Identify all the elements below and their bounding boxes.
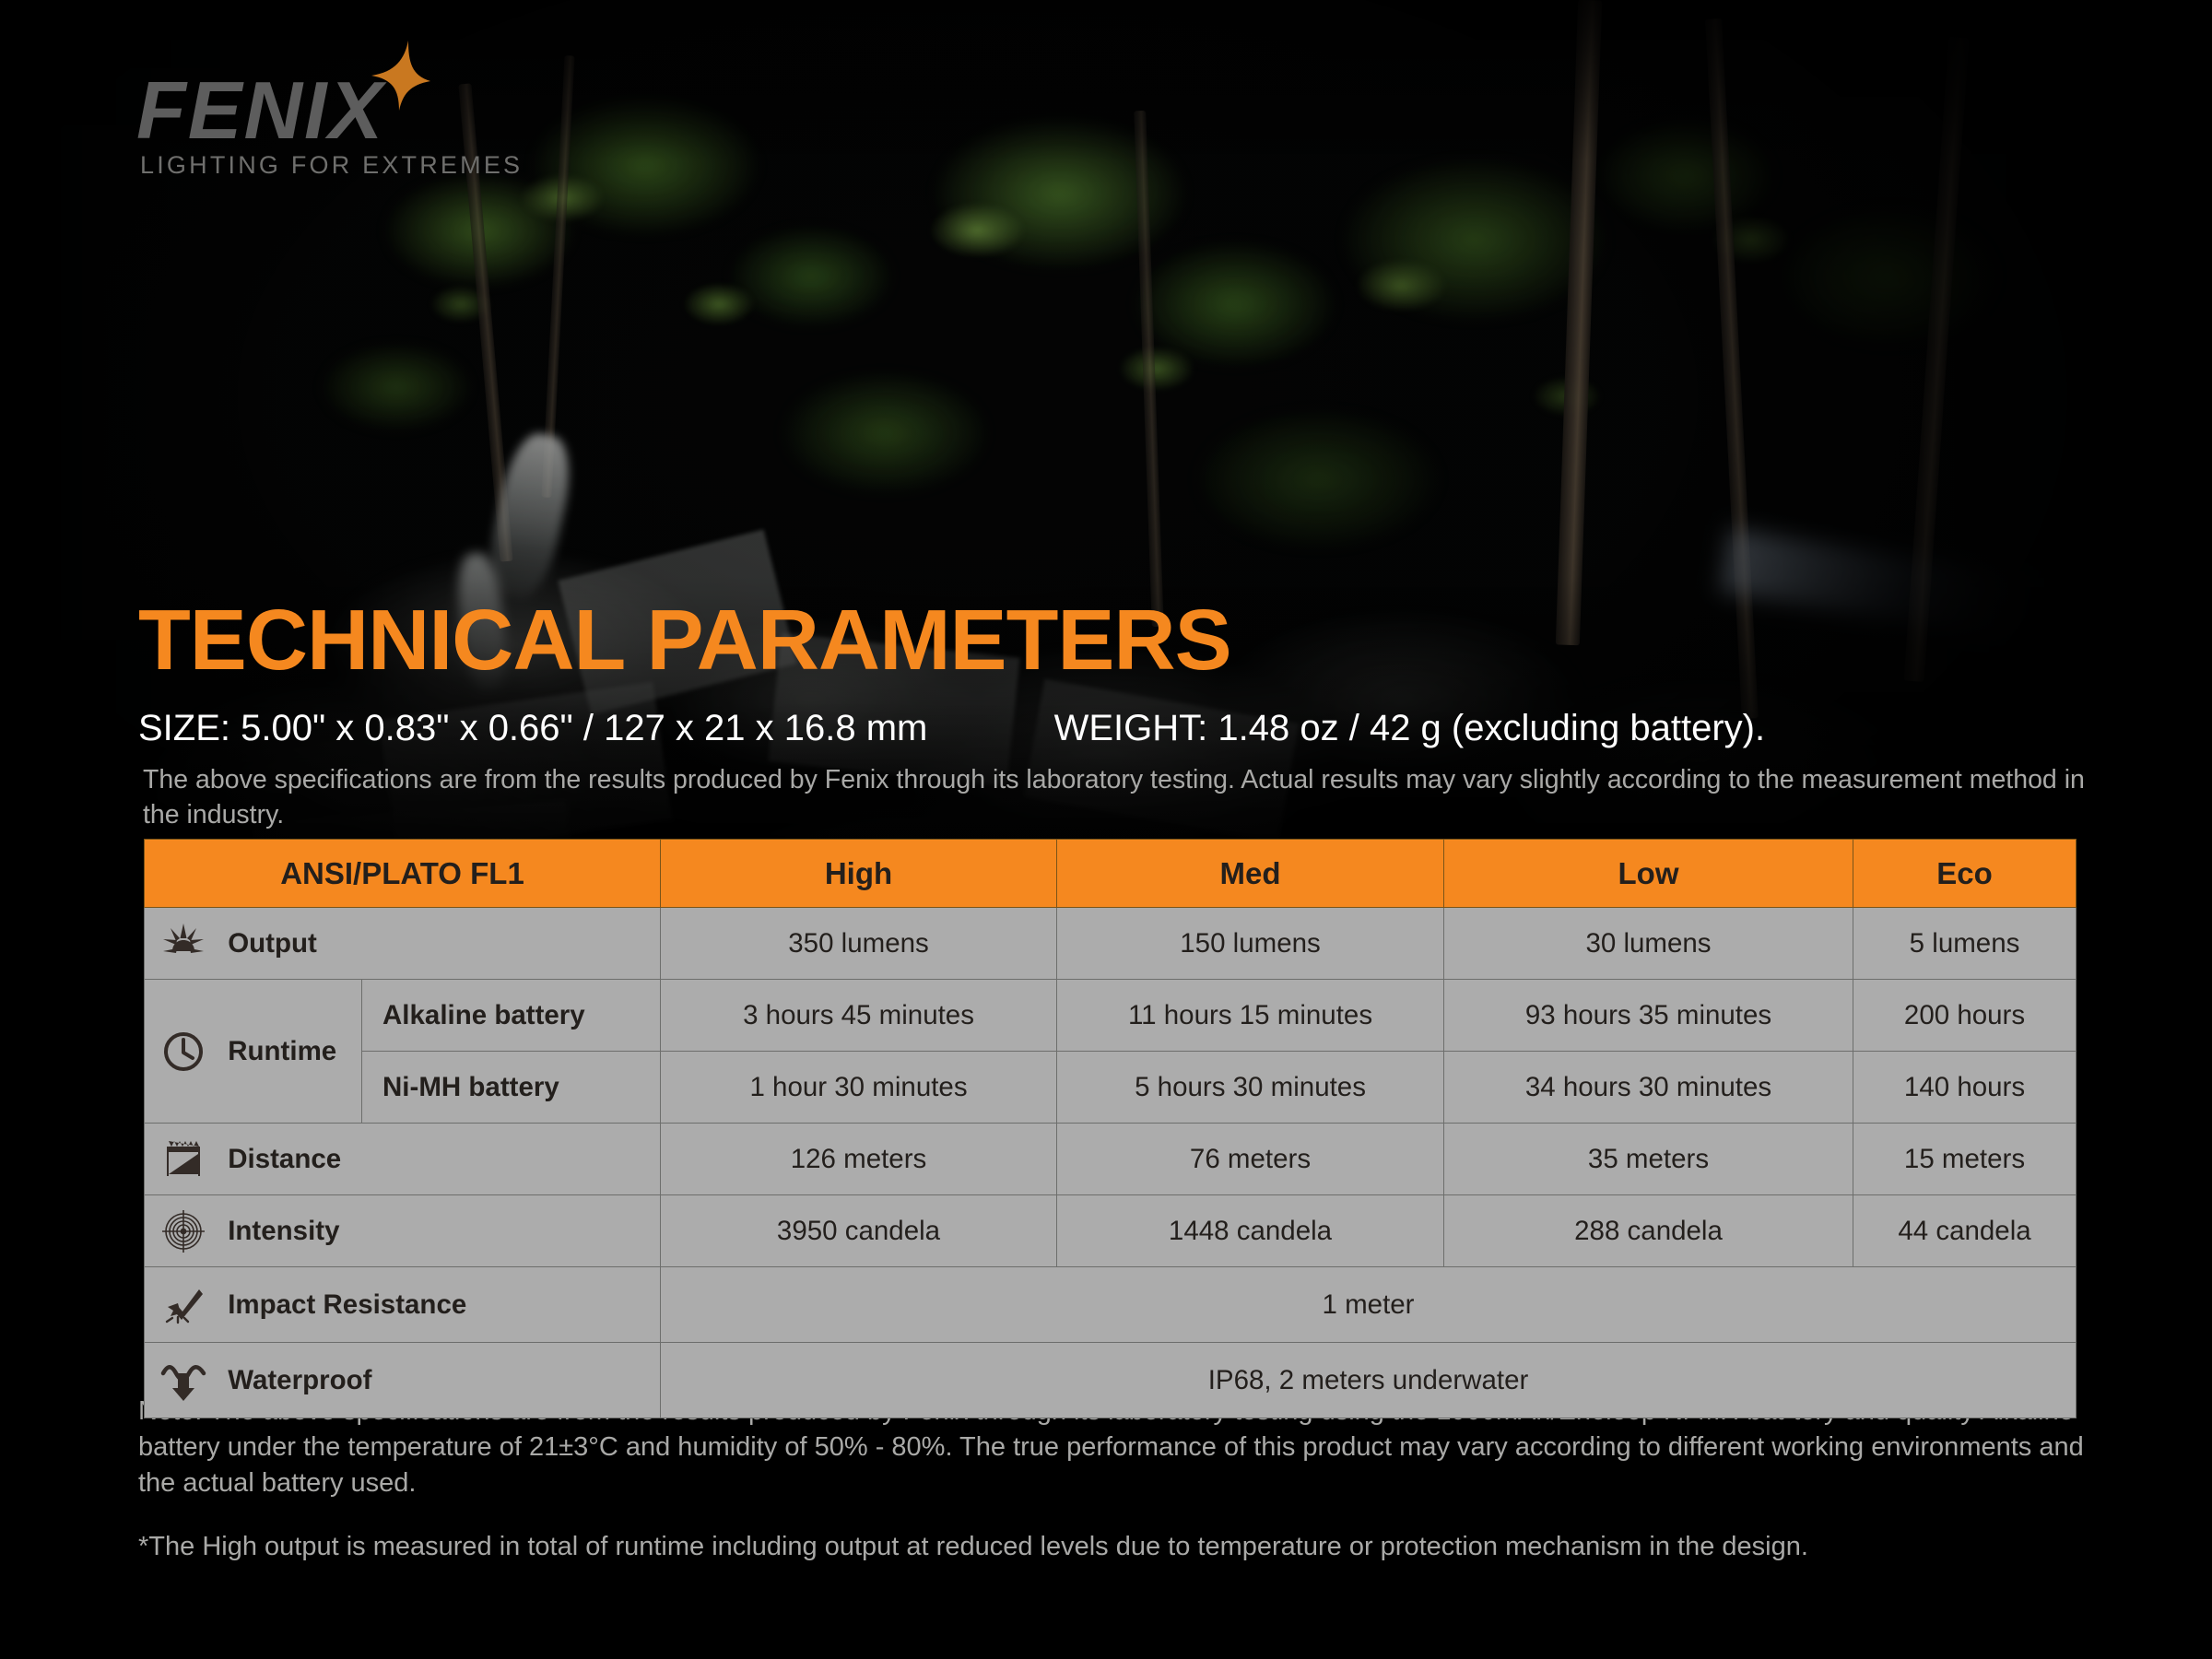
runtime-alkaline-high: 3 hours 45 minutes — [661, 980, 1057, 1052]
runtime-alkaline-eco: 200 hours — [1853, 980, 2077, 1052]
impact-resistance-label: Impact Resistance — [228, 1289, 466, 1321]
row-label-runtime: Runtime — [145, 980, 362, 1124]
runtime-alkaline-low: 93 hours 35 minutes — [1444, 980, 1853, 1052]
row-label-distance: Distance — [145, 1124, 661, 1195]
output-med: 150 lumens — [1057, 908, 1444, 980]
intensity-med: 1448 candela — [1057, 1195, 1444, 1267]
distance-low: 35 meters — [1444, 1124, 1853, 1195]
page-title: TECHNICAL PARAMETERS — [138, 597, 1231, 683]
intensity-high: 3950 candela — [661, 1195, 1057, 1267]
output-label: Output — [228, 928, 317, 959]
disclaimer-text: The above specifications are from the re… — [143, 763, 2106, 833]
table-row-output: Output 350 lumens 150 lumens 30 lumens 5… — [145, 908, 2077, 980]
footnote-high-output: *The High output is measured in total of… — [138, 1529, 2112, 1565]
intensity-low: 288 candela — [1444, 1195, 1853, 1267]
table-row-waterproof: Waterproof IP68, 2 meters underwater — [145, 1343, 2077, 1418]
header-param: ANSI/PLATO FL1 — [145, 840, 661, 908]
brand-name: FENIX — [136, 72, 523, 149]
waterproof-value: IP68, 2 meters underwater — [661, 1343, 2077, 1418]
waterproof-label: Waterproof — [228, 1365, 371, 1396]
distance-high: 126 meters — [661, 1124, 1057, 1195]
table-header-row: ANSI/PLATO FL1 High Med Low Eco — [145, 840, 2077, 908]
output-high: 350 lumens — [661, 908, 1057, 980]
size-value: SIZE: 5.00" x 0.83" x 0.66" / 127 x 21 x… — [138, 708, 927, 748]
target-intensity-icon — [159, 1207, 207, 1255]
brand-logo: FENIX LIGHTING FOR EXTREMES — [136, 72, 523, 180]
runtime-alkaline-med: 11 hours 15 minutes — [1057, 980, 1444, 1052]
star-icon — [371, 41, 430, 111]
table-row-distance: Distance 126 meters 76 meters 35 meters … — [145, 1124, 2077, 1195]
table-header: ANSI/PLATO FL1 High Med Low Eco — [145, 840, 2077, 908]
table-row-intensity: Intensity 3950 candela 1448 candela 288 … — [145, 1195, 2077, 1267]
brand-tagline: LIGHTING FOR EXTREMES — [140, 151, 523, 180]
row-label-waterproof: Waterproof — [145, 1343, 661, 1418]
distance-med: 76 meters — [1057, 1124, 1444, 1195]
distance-label: Distance — [228, 1144, 341, 1175]
row-label-intensity: Intensity — [145, 1195, 661, 1267]
runtime-nimh-med: 5 hours 30 minutes — [1057, 1052, 1444, 1124]
intensity-label: Intensity — [228, 1216, 339, 1247]
footnotes: Note: The above specifications are from … — [138, 1394, 2112, 1564]
runtime-nimh-label: Ni-MH battery — [362, 1052, 661, 1124]
clock-icon — [159, 1028, 207, 1076]
table-row-impact-resistance: Impact Resistance 1 meter — [145, 1267, 2077, 1343]
runtime-alkaline-label: Alkaline battery — [362, 980, 661, 1052]
runtime-label: Runtime — [228, 1036, 336, 1067]
impact-arrow-icon — [159, 1281, 207, 1329]
table-body: Output 350 lumens 150 lumens 30 lumens 5… — [145, 908, 2077, 1418]
table-row-runtime-nimh: Ni-MH battery 1 hour 30 minutes 5 hours … — [145, 1052, 2077, 1124]
runtime-nimh-low: 34 hours 30 minutes — [1444, 1052, 1853, 1124]
size-weight-line: SIZE: 5.00" x 0.83" x 0.66" / 127 x 21 x… — [138, 708, 1765, 749]
output-eco: 5 lumens — [1853, 908, 2077, 980]
output-low: 30 lumens — [1444, 908, 1853, 980]
header-med: Med — [1057, 840, 1444, 908]
specifications-table: ANSI/PLATO FL1 High Med Low Eco — [144, 839, 2077, 1418]
technical-parameters-page: FENIX LIGHTING FOR EXTREMES TECHNICAL PA… — [0, 0, 2212, 1659]
runtime-nimh-eco: 140 hours — [1853, 1052, 2077, 1124]
beam-distance-icon — [159, 1135, 207, 1183]
row-label-output: Output — [145, 908, 661, 980]
table-row-runtime-alkaline: Runtime Alkaline battery 3 hours 45 minu… — [145, 980, 2077, 1052]
header-eco: Eco — [1853, 840, 2077, 908]
waterproof-wave-icon — [159, 1357, 207, 1405]
intensity-eco: 44 candela — [1853, 1195, 2077, 1267]
distance-eco: 15 meters — [1853, 1124, 2077, 1195]
runtime-nimh-high: 1 hour 30 minutes — [661, 1052, 1057, 1124]
sunburst-icon — [159, 920, 207, 968]
header-high: High — [661, 840, 1057, 908]
header-low: Low — [1444, 840, 1853, 908]
impact-resistance-value: 1 meter — [661, 1267, 2077, 1343]
weight-value: WEIGHT: 1.48 oz / 42 g (excluding batter… — [1054, 708, 1765, 748]
row-label-impact-resistance: Impact Resistance — [145, 1267, 661, 1343]
